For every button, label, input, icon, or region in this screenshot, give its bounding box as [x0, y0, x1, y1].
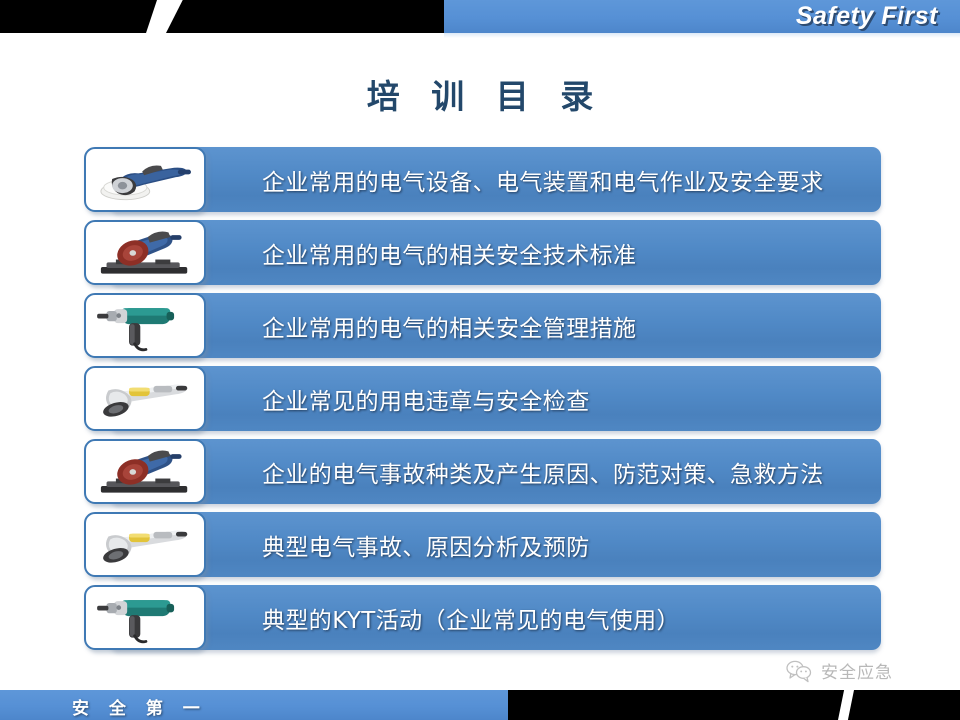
- electric-drill-icon: [84, 293, 206, 358]
- watermark: 安全应急: [786, 658, 893, 683]
- toc-row-label: 企业常用的电气设备、电气装置和电气作业及安全要求: [262, 147, 865, 212]
- header-underglow: [444, 33, 960, 38]
- toc-row[interactable]: 典型的KYT活动（企业常见的电气使用）: [84, 585, 881, 650]
- header-black-bar-left: [0, 0, 157, 33]
- chop-saw-icon: [84, 439, 206, 504]
- angle-grinder-icon: [84, 512, 206, 577]
- toc-row-label: 企业的电气事故种类及产生原因、防范对策、急救方法: [262, 439, 865, 504]
- toc-row-label: 企业常见的用电违章与安全检查: [262, 366, 865, 431]
- toc-row[interactable]: 企业的电气事故种类及产生原因、防范对策、急救方法: [84, 439, 881, 504]
- page-header: Safety First: [0, 0, 960, 33]
- watermark-label: 安全应急: [821, 658, 893, 683]
- toc-row-label: 企业常用的电气的相关安全技术标准: [262, 220, 865, 285]
- chop-saw-icon: [84, 220, 206, 285]
- header-brand-title: Safety First: [796, 1, 938, 32]
- training-toc-list: 企业常用的电气设备、电气装置和电气作业及安全要求 企业常用的电气的相关安全技术标…: [84, 147, 884, 658]
- header-black-bar-mid: [166, 0, 445, 33]
- toc-row[interactable]: 企业常用的电气的相关安全管理措施: [84, 293, 881, 358]
- electric-drill-icon: [84, 585, 206, 650]
- toc-row-label: 典型的KYT活动（企业常见的电气使用）: [262, 585, 865, 650]
- wechat-bubble-icon: [786, 659, 814, 683]
- angle-grinder-icon: [84, 366, 206, 431]
- toc-row-label: 典型电气事故、原因分析及预防: [262, 512, 865, 577]
- page-title: 培 训 目 录: [0, 70, 960, 118]
- toc-row[interactable]: 典型电气事故、原因分析及预防: [84, 512, 881, 577]
- footer-black-bar: [508, 690, 960, 720]
- toc-row[interactable]: 企业常用的电气的相关安全技术标准: [84, 220, 881, 285]
- angle-grinder-polisher-icon: [84, 147, 206, 212]
- toc-row[interactable]: 企业常见的用电违章与安全检查: [84, 366, 881, 431]
- footer-slogan: 安 全 第 一: [72, 694, 207, 719]
- toc-row-label: 企业常用的电气的相关安全管理措施: [262, 293, 865, 358]
- toc-row[interactable]: 企业常用的电气设备、电气装置和电气作业及安全要求: [84, 147, 881, 212]
